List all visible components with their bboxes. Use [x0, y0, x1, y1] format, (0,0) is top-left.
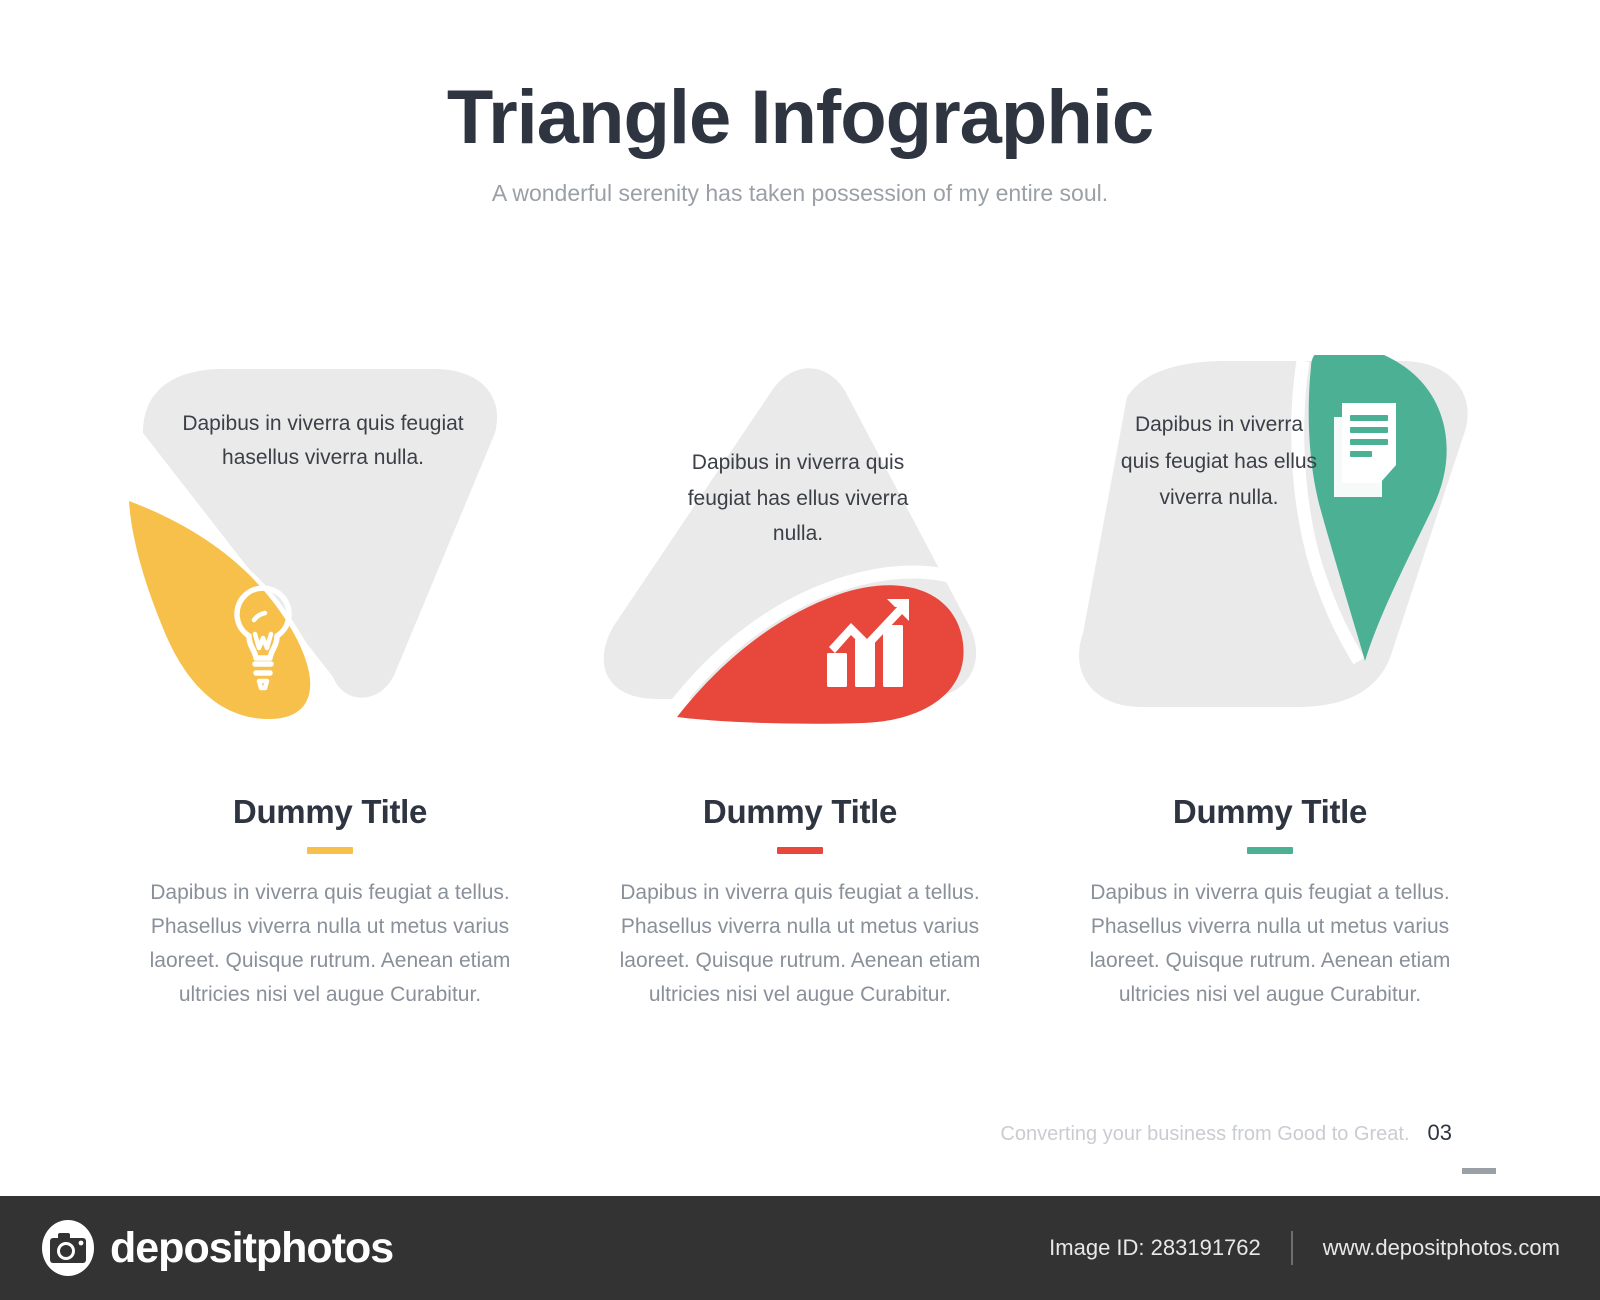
page-title: Triangle Infographic — [0, 78, 1600, 158]
footer-rule — [1462, 1168, 1496, 1174]
camera-icon — [40, 1220, 96, 1276]
page-number: 03 — [1428, 1120, 1452, 1146]
depositphotos-logo[interactable]: depositphotos — [40, 1220, 393, 1276]
item-body-1: Dapibus in viverra quis feugiat a tellus… — [130, 876, 530, 1012]
infographic-columns: Dapibus in viverra quis feugiat hasellus… — [0, 355, 1600, 1012]
textblock-1: Dummy Title Dapibus in viverra quis feug… — [95, 755, 565, 1012]
infographic-item-1[interactable]: Dapibus in viverra quis feugiat hasellus… — [95, 355, 565, 1012]
brand-name: depositphotos — [110, 1224, 393, 1273]
shape-text-1: Dapibus in viverra quis feugiat hasellus… — [153, 407, 493, 475]
slide-header: Triangle Infographic A wonderful serenit… — [0, 78, 1600, 207]
item-title-1: Dummy Title — [95, 793, 565, 831]
image-id: Image ID: 283191762 — [1049, 1235, 1261, 1261]
item-body-3: Dapibus in viverra quis feugiat a tellus… — [1070, 876, 1470, 1012]
accent-bar-3 — [1247, 847, 1293, 854]
infographic-item-2[interactable]: Dapibus in viverra quis feugiat has ellu… — [565, 355, 1035, 1012]
shape-group-2 — [565, 355, 1035, 755]
graphic-3: Dapibus in viverra quis feugiat has ellu… — [1035, 355, 1505, 755]
site-url[interactable]: www.depositphotos.com — [1323, 1235, 1560, 1261]
item-body-2: Dapibus in viverra quis feugiat a tellus… — [600, 876, 1000, 1012]
item-title-3: Dummy Title — [1035, 793, 1505, 831]
infographic-item-3[interactable]: Dapibus in viverra quis feugiat has ellu… — [1035, 355, 1505, 1012]
graphic-2: Dapibus in viverra quis feugiat has ellu… — [565, 355, 1035, 755]
watermark-bar: depositphotos Image ID: 283191762 www.de… — [0, 1196, 1600, 1300]
divider — [1291, 1231, 1293, 1265]
page-subtitle: A wonderful serenity has taken possessio… — [0, 180, 1600, 207]
textblock-2: Dummy Title Dapibus in viverra quis feug… — [565, 755, 1035, 1012]
item-title-2: Dummy Title — [565, 793, 1035, 831]
textblock-3: Dummy Title Dapibus in viverra quis feug… — [1035, 755, 1505, 1012]
slide-canvas: Triangle Infographic A wonderful serenit… — [0, 0, 1600, 1190]
graphic-1: Dapibus in viverra quis feugiat hasellus… — [95, 355, 565, 755]
accent-bar-2 — [777, 847, 823, 854]
accent-bar-1 — [307, 847, 353, 854]
watermark-meta: Image ID: 283191762 www.depositphotos.co… — [1049, 1231, 1560, 1265]
shape-text-3: Dapibus in viverra quis feugiat has ellu… — [1119, 407, 1319, 517]
shape-text-2: Dapibus in viverra quis feugiat has ellu… — [673, 445, 923, 552]
footer-tagline: Converting your business from Good to Gr… — [1000, 1123, 1409, 1146]
slide-footer: Converting your business from Good to Gr… — [1000, 1120, 1452, 1146]
